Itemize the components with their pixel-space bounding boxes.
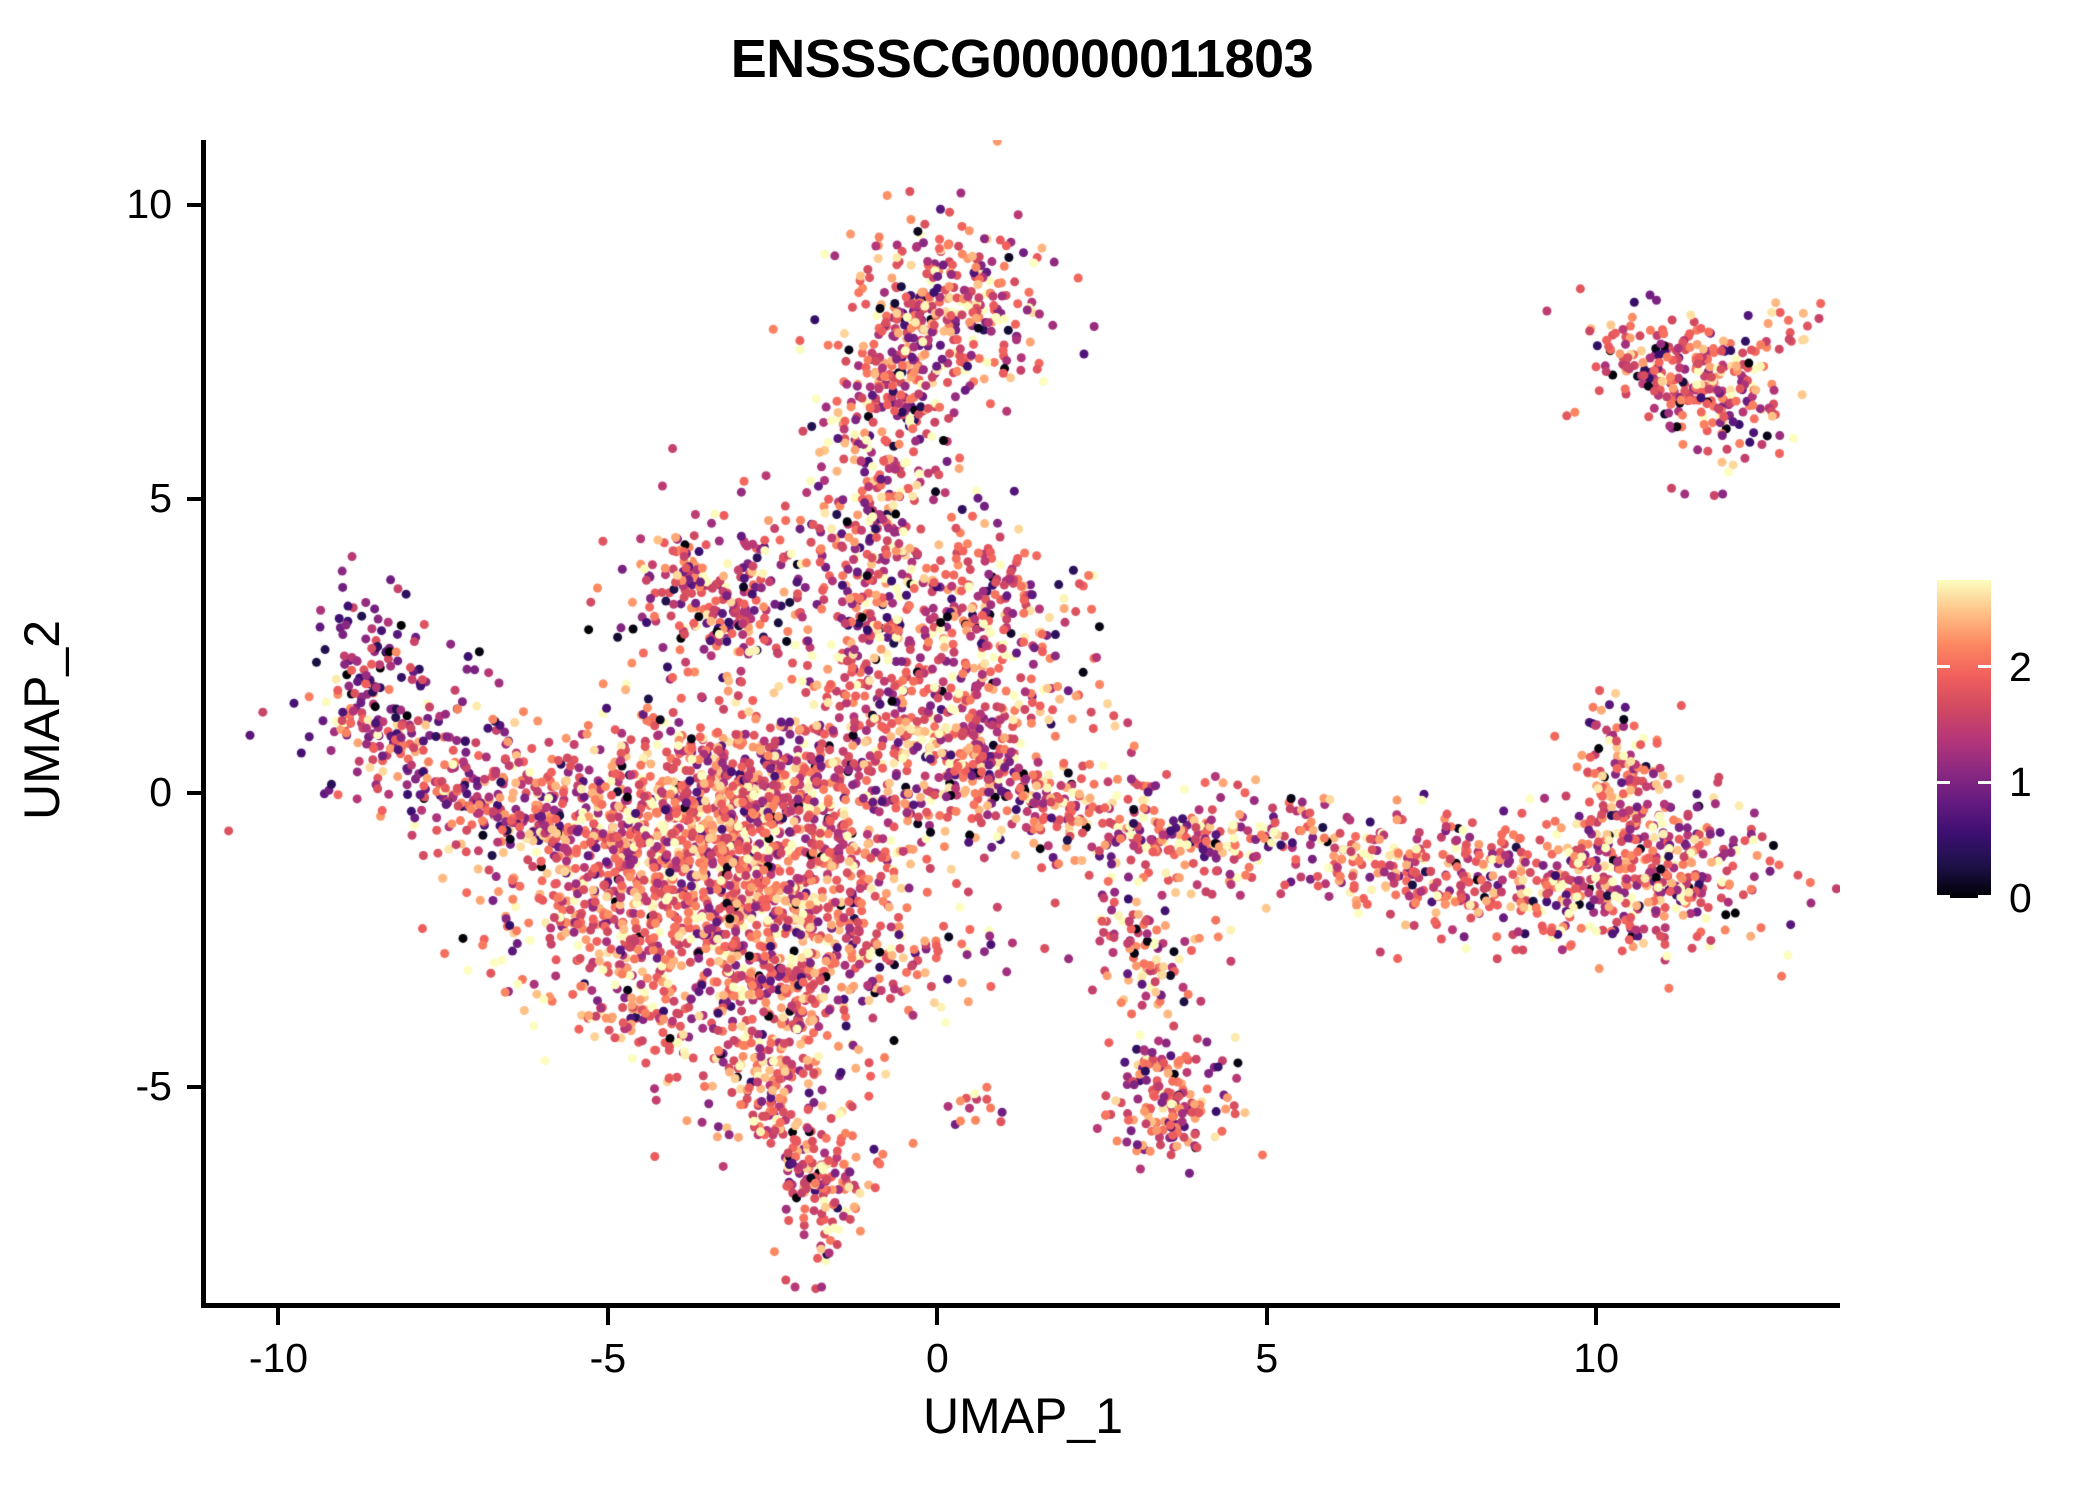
- x-axis-title: UMAP_1: [206, 1389, 1840, 1443]
- x-tick-label: 5: [1167, 1338, 1367, 1379]
- y-tick-mark: [187, 203, 204, 207]
- y-tick-mark: [187, 497, 204, 501]
- colorbar-gradient: [1937, 580, 1991, 898]
- y-tick-mark: [187, 791, 204, 795]
- x-tick-label: 0: [837, 1338, 1037, 1379]
- plot-panel: [206, 140, 1840, 1305]
- x-tick-mark: [1594, 1308, 1598, 1325]
- x-tick-label: 10: [1496, 1338, 1696, 1379]
- colorbar-tick-label: 0: [2009, 878, 2032, 919]
- x-tick-label: -10: [178, 1338, 378, 1379]
- y-axis-title: UMAP_2: [14, 0, 70, 1440]
- y-axis-line: [201, 140, 206, 1308]
- colorbar-tick-label: 1: [2009, 762, 2032, 803]
- umap-feature-plot: ENSSSCG00000011803 -50510 -10-50510 UMAP…: [0, 0, 2100, 1500]
- page-title: ENSSSCG00000011803: [204, 28, 1840, 90]
- x-tick-mark: [276, 1308, 280, 1325]
- y-tick-mark: [187, 1085, 204, 1089]
- colorbar-tick-label: 2: [2009, 647, 2032, 688]
- x-tick-label: -5: [508, 1338, 708, 1379]
- x-tick-mark: [935, 1308, 939, 1325]
- scatter-plot-canvas: [206, 140, 1840, 1305]
- x-tick-mark: [1265, 1308, 1269, 1325]
- x-tick-mark: [606, 1308, 610, 1325]
- y-axis-title-text: UMAP_2: [15, 620, 69, 820]
- color-legend: 210: [1937, 580, 2087, 910]
